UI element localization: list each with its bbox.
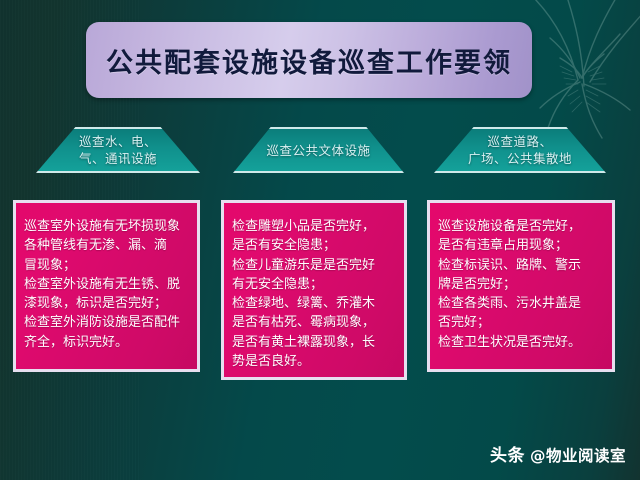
watermark-handle: @物业阅读室 bbox=[530, 444, 626, 466]
watermark: 头条 @物业阅读室 bbox=[490, 441, 626, 466]
content-box-1-line-4: 检查室外设施有无生锈、脱 bbox=[24, 275, 191, 294]
leaf-decoration-icon bbox=[520, 0, 640, 144]
content-box-1-line-2: 各种管线有无渗、漏、滴 bbox=[24, 236, 191, 255]
page-title: 公共配套设施设备巡查工作要领 bbox=[106, 41, 512, 80]
content-box-1-line-7: 齐全，标识完好。 bbox=[24, 333, 191, 352]
content-box-1: 巡查室外设施有无坏损现象 各种管线有无渗、漏、滴 冒现象； 检查室外设施有无生锈… bbox=[13, 200, 200, 372]
content-box-2-line-8: 势是否良好。 bbox=[232, 352, 398, 371]
content-box-2-line-1: 检查雕塑小品是否完好， bbox=[232, 217, 398, 236]
content-box-1-line-3: 冒现象； bbox=[24, 256, 191, 275]
column-header-1-line-1: 巡查水、电、 bbox=[79, 133, 157, 150]
content-box-2: 检查雕塑小品是否完好， 是否有安全隐患； 检查儿童游乐是是否完好 有无安全隐患；… bbox=[221, 200, 407, 380]
column-header-1: 巡查水、电、 气、通讯设施 bbox=[36, 127, 200, 173]
content-box-3-line-5: 检查各类雨、污水井盖是 bbox=[438, 294, 606, 313]
content-box-3-line-4: 牌是否完好； bbox=[438, 275, 606, 294]
content-box-3: 巡查设施设备是否完好， 是否有违章占用现象； 检查标误识、路牌、警示 牌是否完好… bbox=[427, 200, 615, 372]
slide-canvas: 公共配套设施设备巡查工作要领 巡查水、电、 气、通讯设施 巡查室外设施有无坏损现… bbox=[0, 0, 640, 480]
column-header-1-line-2: 气、通讯设施 bbox=[79, 150, 157, 167]
content-box-1-line-6: 检查室外消防设施是否配件 bbox=[24, 313, 191, 332]
watermark-brand: 头条 bbox=[490, 441, 525, 466]
column-header-3-content: 巡查道路、 广场、公共集散地 bbox=[462, 133, 578, 167]
column-header-3-line-1: 巡查道路、 bbox=[468, 133, 572, 150]
content-box-1-line-1: 巡查室外设施有无坏损现象 bbox=[24, 217, 191, 236]
content-box-3-line-7: 检查卫生状况是否完好。 bbox=[438, 333, 606, 352]
column-header-3: 巡查道路、 广场、公共集散地 bbox=[434, 127, 606, 173]
content-box-3-line-3: 检查标误识、路牌、警示 bbox=[438, 256, 606, 275]
content-box-3-line-1: 巡查设施设备是否完好， bbox=[438, 217, 606, 236]
column-header-3-line-2: 广场、公共集散地 bbox=[468, 150, 572, 167]
content-box-2-line-3: 检查儿童游乐是是否完好 bbox=[232, 256, 398, 275]
content-box-3-line-2: 是否有违章占用现象； bbox=[438, 236, 606, 255]
content-box-2-line-4: 有无安全隐患； bbox=[232, 275, 398, 294]
content-box-2-line-7: 是否有黄土裸露现象，长 bbox=[232, 333, 398, 352]
content-box-3-line-6: 否完好； bbox=[438, 313, 606, 332]
content-box-2-line-2: 是否有安全隐患； bbox=[232, 236, 398, 255]
slide-title-banner: 公共配套设施设备巡查工作要领 bbox=[86, 22, 532, 98]
column-header-2-line-1: 巡查公共文体设施 bbox=[266, 142, 370, 159]
content-box-2-line-6: 是否有枯死、霉病现象， bbox=[232, 313, 398, 332]
column-header-1-content: 巡查水、电、 气、通讯设施 bbox=[73, 133, 163, 167]
content-box-1-line-5: 漆现象，标识是否完好； bbox=[24, 294, 191, 313]
content-box-2-line-5: 检查绿地、绿篱、乔灌木 bbox=[232, 294, 398, 313]
column-header-2-content: 巡查公共文体设施 bbox=[260, 142, 376, 159]
column-header-2: 巡查公共文体设施 bbox=[233, 127, 404, 173]
